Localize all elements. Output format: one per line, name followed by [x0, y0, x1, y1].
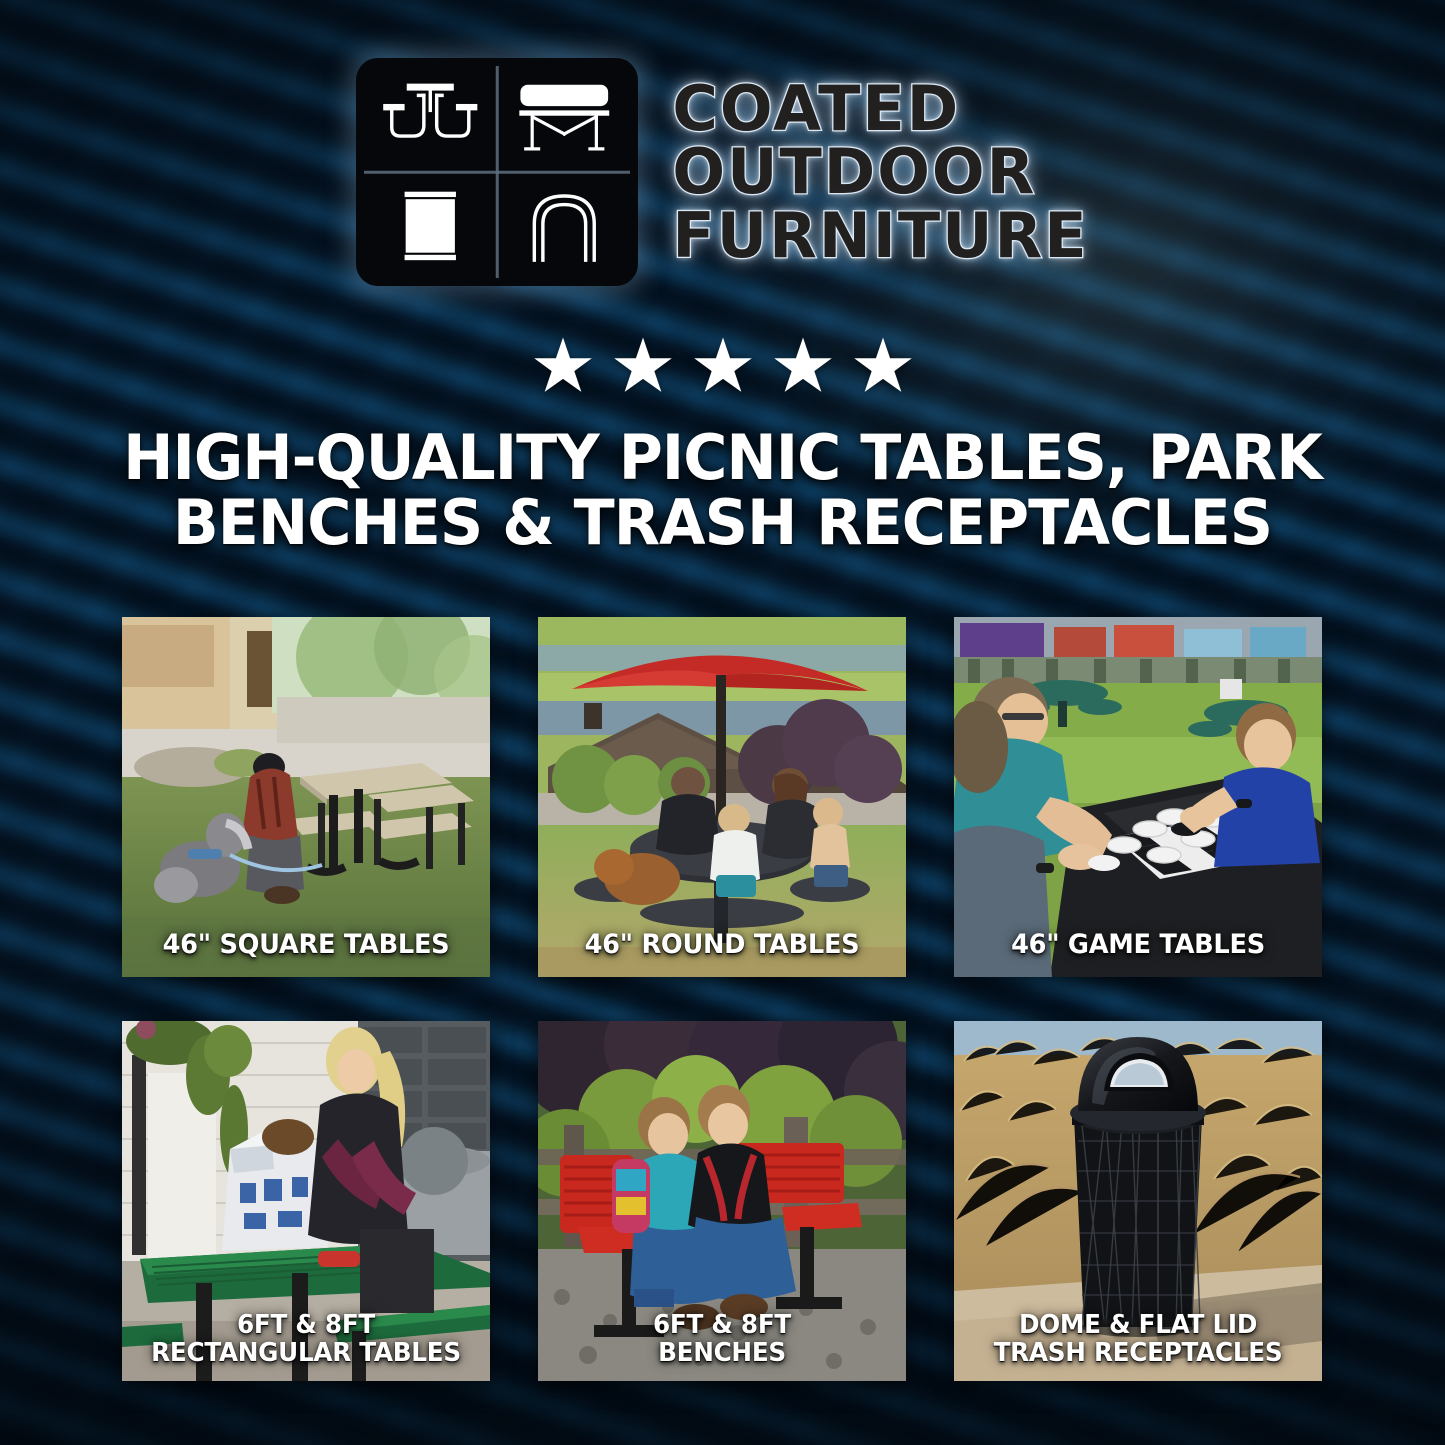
star-icon — [693, 336, 753, 396]
product-label-line-1: 46" SQUARE TABLES — [139, 930, 473, 959]
star-icon — [533, 336, 593, 396]
brand-wordmark: COATED OUTDOOR FURNITURE — [672, 79, 1088, 266]
product-tile-rectangular-tables[interactable]: 6FT & 8FT RECTANGULAR TABLES — [122, 1021, 490, 1381]
brand-line-2: OUTDOOR — [672, 142, 1088, 202]
product-label-line-1: 6FT & 8FT — [139, 1311, 473, 1339]
product-label: 6FT & 8FT RECTANGULAR TABLES — [131, 1311, 481, 1367]
headline-line-1: HIGH-QUALITY PICNIC TABLES, PARK — [90, 425, 1356, 490]
product-tile-grid: 46" SQUARE TABLES — [122, 617, 1322, 1381]
poster-canvas: COATED OUTDOOR FURNITURE HIGH-QUALITY PI… — [0, 0, 1445, 1445]
brand-line-1: COATED — [672, 79, 1088, 139]
product-label-line-1: 6FT & 8FT — [555, 1311, 889, 1339]
product-tile-round-tables[interactable]: 46" ROUND TABLES — [538, 617, 906, 977]
logo-mark-tiles — [356, 58, 638, 286]
product-label: 46" SQUARE TABLES — [131, 930, 481, 959]
product-label: DOME & FLAT LID TRASH RECEPTACLES — [963, 1311, 1313, 1367]
picnic-table-icon — [363, 65, 497, 172]
headline-line-2: BENCHES & TRASH RECEPTACLES — [90, 490, 1356, 555]
product-label: 6FT & 8FT BENCHES — [547, 1311, 897, 1367]
game-tables-photo — [954, 617, 1322, 977]
star-icon — [853, 336, 913, 396]
product-tile-trash-receptacles[interactable]: DOME & FLAT LID TRASH RECEPTACLES — [954, 1021, 1322, 1381]
product-label: 46" GAME TABLES — [963, 930, 1313, 959]
brand-line-3: FURNITURE — [672, 206, 1088, 266]
product-tile-square-tables[interactable]: 46" SQUARE TABLES — [122, 617, 490, 977]
trash-receptacle-icon — [363, 172, 497, 279]
star-rating — [0, 336, 1445, 396]
product-label-line-1: 46" GAME TABLES — [971, 930, 1305, 959]
bench-icon — [497, 65, 631, 172]
page-title: HIGH-QUALITY PICNIC TABLES, PARK BENCHES… — [22, 425, 1424, 555]
brand-logo: COATED OUTDOOR FURNITURE — [0, 58, 1445, 286]
round-tables-photo — [538, 617, 906, 977]
product-label-line-2: TRASH RECEPTACLES — [971, 1339, 1305, 1367]
product-tile-game-tables[interactable]: 46" GAME TABLES — [954, 617, 1322, 977]
star-icon — [773, 336, 833, 396]
product-label-line-1: DOME & FLAT LID — [971, 1311, 1305, 1339]
product-tile-benches[interactable]: 6FT & 8FT BENCHES — [538, 1021, 906, 1381]
bike-rack-icon — [497, 172, 631, 279]
product-label-line-2: RECTANGULAR TABLES — [139, 1339, 473, 1367]
product-label-line-2: BENCHES — [555, 1339, 889, 1367]
product-label: 46" ROUND TABLES — [547, 930, 897, 959]
star-icon — [613, 336, 673, 396]
square-tables-photo — [122, 617, 490, 977]
product-label-line-1: 46" ROUND TABLES — [555, 930, 889, 959]
